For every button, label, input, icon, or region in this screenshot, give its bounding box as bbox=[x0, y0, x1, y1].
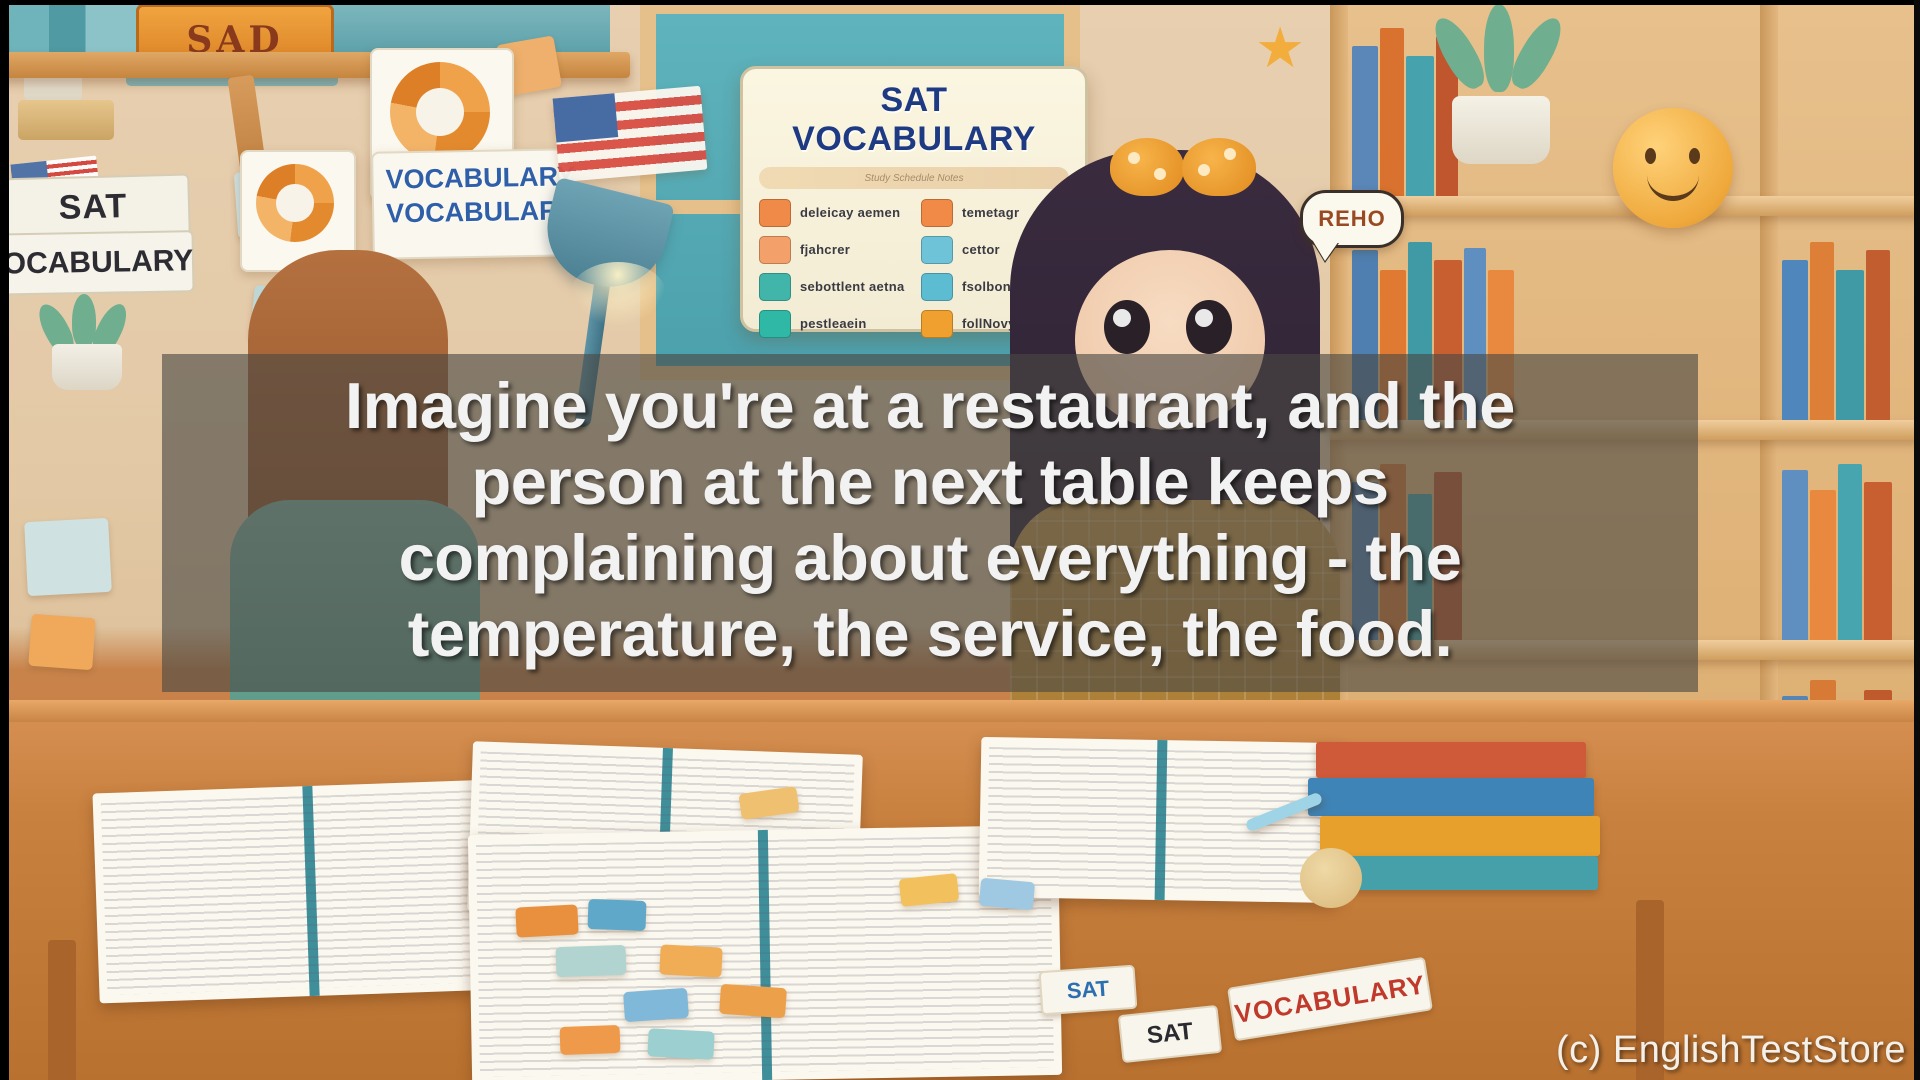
usa-flag-icon bbox=[553, 86, 708, 183]
book-spine bbox=[1782, 260, 1808, 420]
word-chip-desk bbox=[515, 904, 578, 937]
word-label: follNovy bbox=[962, 317, 1016, 331]
donut-chart-center-icon bbox=[390, 62, 490, 162]
desk-label-text: SAT bbox=[1146, 1018, 1195, 1051]
wall-card-vocabulary-label: VOCABULARY bbox=[0, 244, 194, 282]
smiley-eye bbox=[1689, 148, 1700, 164]
desk-label-text: SAT bbox=[1066, 976, 1110, 1005]
word-chip-desk bbox=[659, 944, 722, 977]
window-frame-left bbox=[640, 0, 656, 380]
poster-word-row: fjahcrer bbox=[759, 236, 907, 264]
speech-bubble-text: REHO bbox=[1318, 206, 1386, 232]
word-label: temetagr bbox=[962, 206, 1019, 220]
stacked-book bbox=[1330, 856, 1598, 890]
book-spine bbox=[1810, 490, 1836, 640]
word-label: deleicay aemen bbox=[800, 206, 900, 220]
stacked-book bbox=[1320, 816, 1600, 856]
poster-title: SAT VOCABULARY bbox=[759, 81, 1069, 159]
word-chip bbox=[759, 236, 791, 264]
book-spine bbox=[1836, 270, 1864, 420]
sticky-note-4 bbox=[28, 614, 95, 670]
student-right-eye bbox=[1186, 300, 1232, 354]
word-chip-desk bbox=[647, 1028, 714, 1059]
bow-right bbox=[1182, 138, 1256, 196]
plant-leaf bbox=[1427, 12, 1492, 95]
wall-card-vocabulary: VOCABULARY bbox=[0, 230, 195, 296]
poster-word-row: sebottlent aetna bbox=[759, 273, 907, 301]
poster-subtitle: Study Schedule Notes bbox=[759, 167, 1069, 189]
hair-bow bbox=[1110, 138, 1260, 198]
desk-leg bbox=[48, 940, 76, 1080]
student-right-eye bbox=[1104, 300, 1150, 354]
caption-line-4: temperature, the service, the food. bbox=[192, 596, 1668, 672]
poster-word-row: pestleaein bbox=[759, 310, 907, 338]
word-label: pestleaein bbox=[800, 317, 867, 331]
word-chip bbox=[921, 199, 953, 227]
word-chip-desk bbox=[587, 899, 646, 931]
stacked-book bbox=[1308, 778, 1594, 816]
poster-word-row: deleicay aemen bbox=[759, 199, 907, 227]
word-chip bbox=[759, 199, 791, 227]
desk-edge bbox=[0, 700, 1920, 722]
caption-line-2: person at the next table keeps bbox=[192, 444, 1668, 520]
bow-dot bbox=[1154, 168, 1166, 180]
caption-overlay: Imagine you're at a restaurant, and the … bbox=[162, 354, 1698, 692]
book-spine bbox=[1838, 464, 1862, 640]
smiley-mouth bbox=[1647, 170, 1699, 201]
donut-chart-left-icon bbox=[256, 164, 334, 242]
book-spine bbox=[1782, 470, 1808, 640]
word-chip bbox=[921, 273, 953, 301]
word-chip-desk bbox=[623, 988, 689, 1022]
smiley-eye bbox=[1645, 148, 1656, 164]
caption-line-1: Imagine you're at a restaurant, and the bbox=[192, 368, 1668, 444]
plant-leaf bbox=[1484, 4, 1514, 92]
watermark: (c) EnglishTestStore bbox=[1556, 1029, 1906, 1072]
open-book-left bbox=[92, 779, 529, 1004]
bow-dot bbox=[1198, 164, 1210, 176]
book-spine bbox=[1380, 28, 1404, 196]
book-spine bbox=[1864, 482, 1892, 640]
word-label: cettor bbox=[962, 243, 1000, 257]
open-book-right bbox=[979, 737, 1342, 903]
word-chip bbox=[759, 273, 791, 301]
bow-left bbox=[1110, 138, 1184, 196]
word-chip bbox=[759, 310, 791, 338]
stacked-book bbox=[1316, 742, 1586, 778]
vocabulary-blue-line-2: VOCABULARY bbox=[386, 194, 571, 231]
wall-card-sat-label: SAT bbox=[58, 187, 127, 228]
letterbox-edge-right bbox=[1914, 0, 1920, 1080]
word-chip-desk bbox=[979, 878, 1035, 911]
desk-label-sat-1: SAT bbox=[1039, 965, 1138, 1016]
bow-dot bbox=[1128, 152, 1140, 164]
word-label: fjahcrer bbox=[800, 243, 850, 257]
speech-bubble: REHO bbox=[1300, 190, 1404, 248]
book-page-lines bbox=[101, 789, 521, 995]
poster-left-column: deleicay aemen fjahcrer sebottlent aetna… bbox=[759, 199, 907, 338]
plant-pot bbox=[1452, 96, 1550, 164]
letterbox-edge-left bbox=[0, 0, 9, 1080]
word-chip bbox=[921, 236, 953, 264]
cookie bbox=[1300, 848, 1362, 908]
word-chip-desk bbox=[555, 945, 626, 977]
book-page-lines bbox=[987, 747, 1333, 895]
sticky-note-3 bbox=[24, 518, 112, 596]
bow-dot bbox=[1224, 148, 1236, 160]
vocabulary-blue-line-1: VOCABULARY bbox=[385, 160, 570, 197]
caption-line-3: complaining about everything - the bbox=[192, 520, 1668, 596]
word-chip bbox=[921, 310, 953, 338]
word-chip-desk bbox=[560, 1025, 621, 1055]
book-spine bbox=[1352, 46, 1378, 196]
desk-lamp-glow bbox=[570, 262, 666, 326]
letterbox-edge-top bbox=[0, 0, 1920, 5]
vocabulary-blue-card: VOCABULARY VOCABULARY bbox=[371, 148, 573, 259]
potted-plant-shelf bbox=[1430, 4, 1570, 164]
plant-pot bbox=[52, 344, 122, 390]
plant-leaf bbox=[1505, 12, 1570, 95]
potted-plant-left bbox=[38, 300, 134, 386]
shelf-tray bbox=[18, 100, 114, 140]
screenshot-canvas: SAD SAT VOCABULARY VOCABULARY VOCABULARY bbox=[0, 0, 1920, 1080]
word-chip-desk bbox=[719, 984, 787, 1019]
smiley-face-icon bbox=[1613, 108, 1733, 228]
book-spine bbox=[1810, 242, 1834, 420]
book-spine bbox=[1866, 250, 1890, 420]
word-label: sebottlent aetna bbox=[800, 280, 904, 294]
